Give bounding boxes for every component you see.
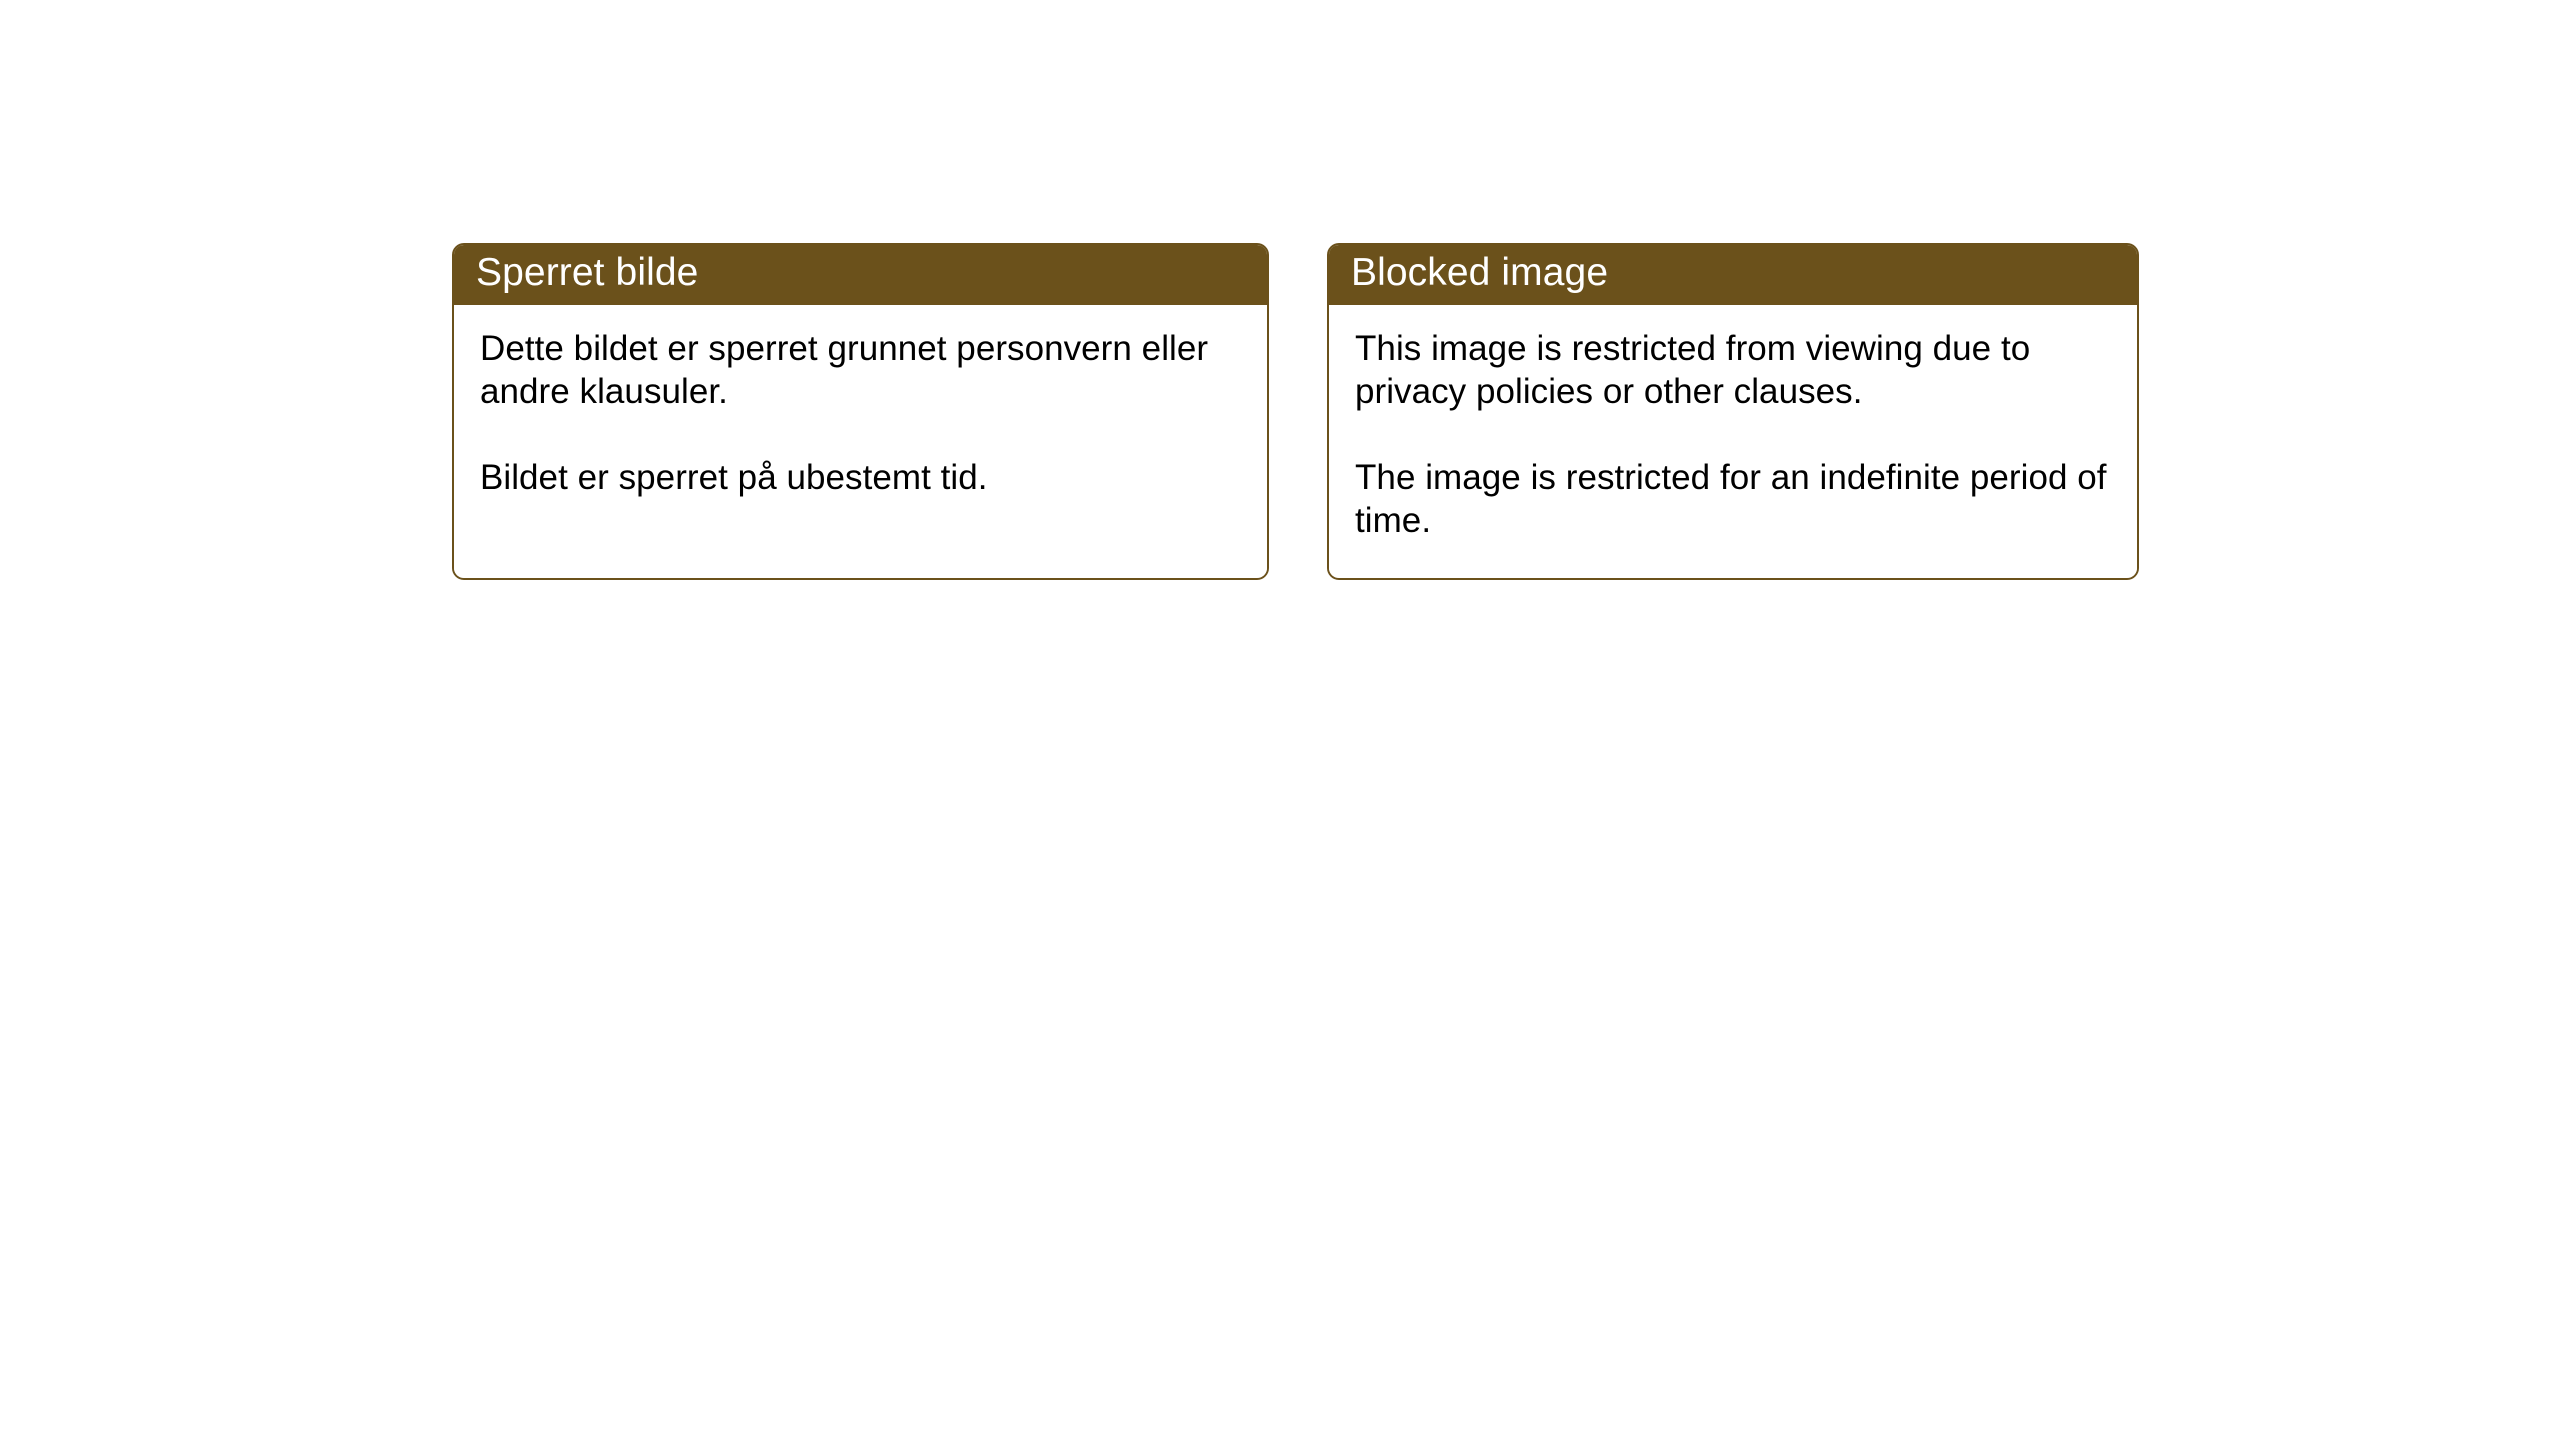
card-body-norwegian: Dette bildet er sperret grunnet personve… (454, 305, 1267, 576)
card-title-english: Blocked image (1351, 253, 1608, 295)
card-title-norwegian: Sperret bilde (476, 253, 698, 295)
card-paragraph-duration-norwegian: Bildet er sperret på ubestemt tid. (480, 456, 1241, 499)
card-header-english: Blocked image (1327, 243, 2139, 305)
card-paragraph-reason-norwegian: Dette bildet er sperret grunnet personve… (480, 327, 1241, 413)
page-canvas: Sperret bilde Dette bildet er sperret gr… (0, 0, 2560, 1440)
blocked-image-card-norwegian: Sperret bilde Dette bildet er sperret gr… (452, 243, 1269, 580)
card-body-english: This image is restricted from viewing du… (1329, 305, 2137, 576)
blocked-image-card-english: Blocked image This image is restricted f… (1327, 243, 2139, 580)
card-header-norwegian: Sperret bilde (452, 243, 1269, 305)
card-paragraph-duration-english: The image is restricted for an indefinit… (1355, 456, 2111, 542)
card-paragraph-reason-english: This image is restricted from viewing du… (1355, 327, 2111, 413)
